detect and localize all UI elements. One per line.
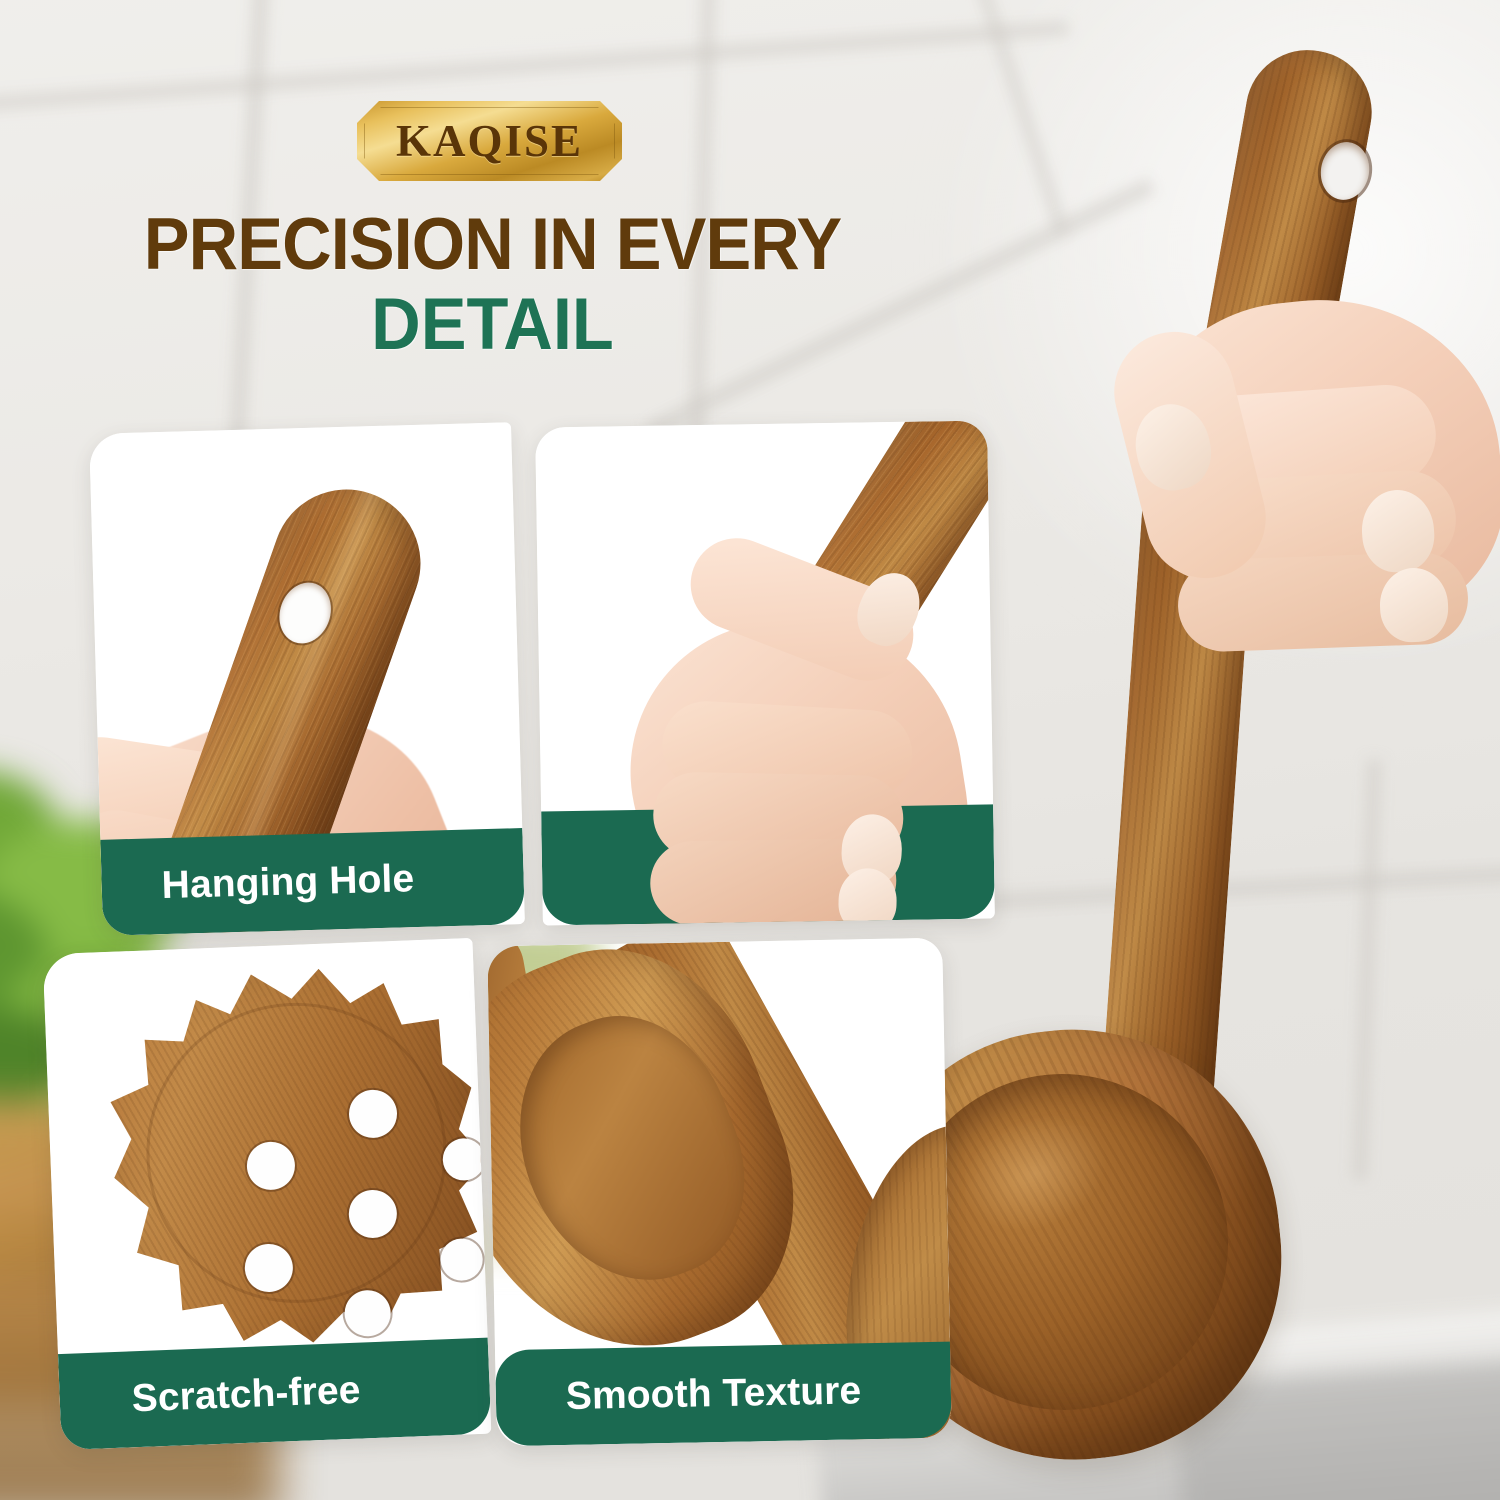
logo-badge-shape: KAQISE [357, 101, 622, 181]
feature-card-hanging-hole[interactable]: Hanging Hole [89, 422, 525, 936]
drain-hole [344, 1289, 392, 1337]
feature-caption-hanging-hole: Hanging Hole [100, 828, 525, 936]
brand-name: KAQISE [396, 115, 583, 167]
drain-hole [442, 1138, 486, 1182]
feature-caption-smooth-texture: Smooth Texture [495, 1342, 952, 1447]
feature-card-smooth-texture[interactable]: Smooth Texture [487, 938, 952, 1447]
feature-card-enhanced-ergonomics[interactable]: Enhanced Ergonomics [535, 420, 995, 925]
caption-text: Hanging Hole [161, 858, 415, 907]
feature-card-scratch-free[interactable]: Scratch-free [43, 938, 492, 1450]
caption-text: Scratch-free [131, 1370, 361, 1421]
page-title: PRECISION IN EVERY DETAIL [30, 210, 956, 361]
headline-line-2: DETAIL [30, 290, 956, 361]
headline-line-1: PRECISION IN EVERY [144, 204, 841, 285]
drain-hole [440, 1238, 484, 1282]
caption-text: Smooth Texture [566, 1370, 862, 1418]
feature-caption-scratch-free: Scratch-free [58, 1338, 491, 1450]
brand-logo: KAQISE [357, 101, 622, 181]
